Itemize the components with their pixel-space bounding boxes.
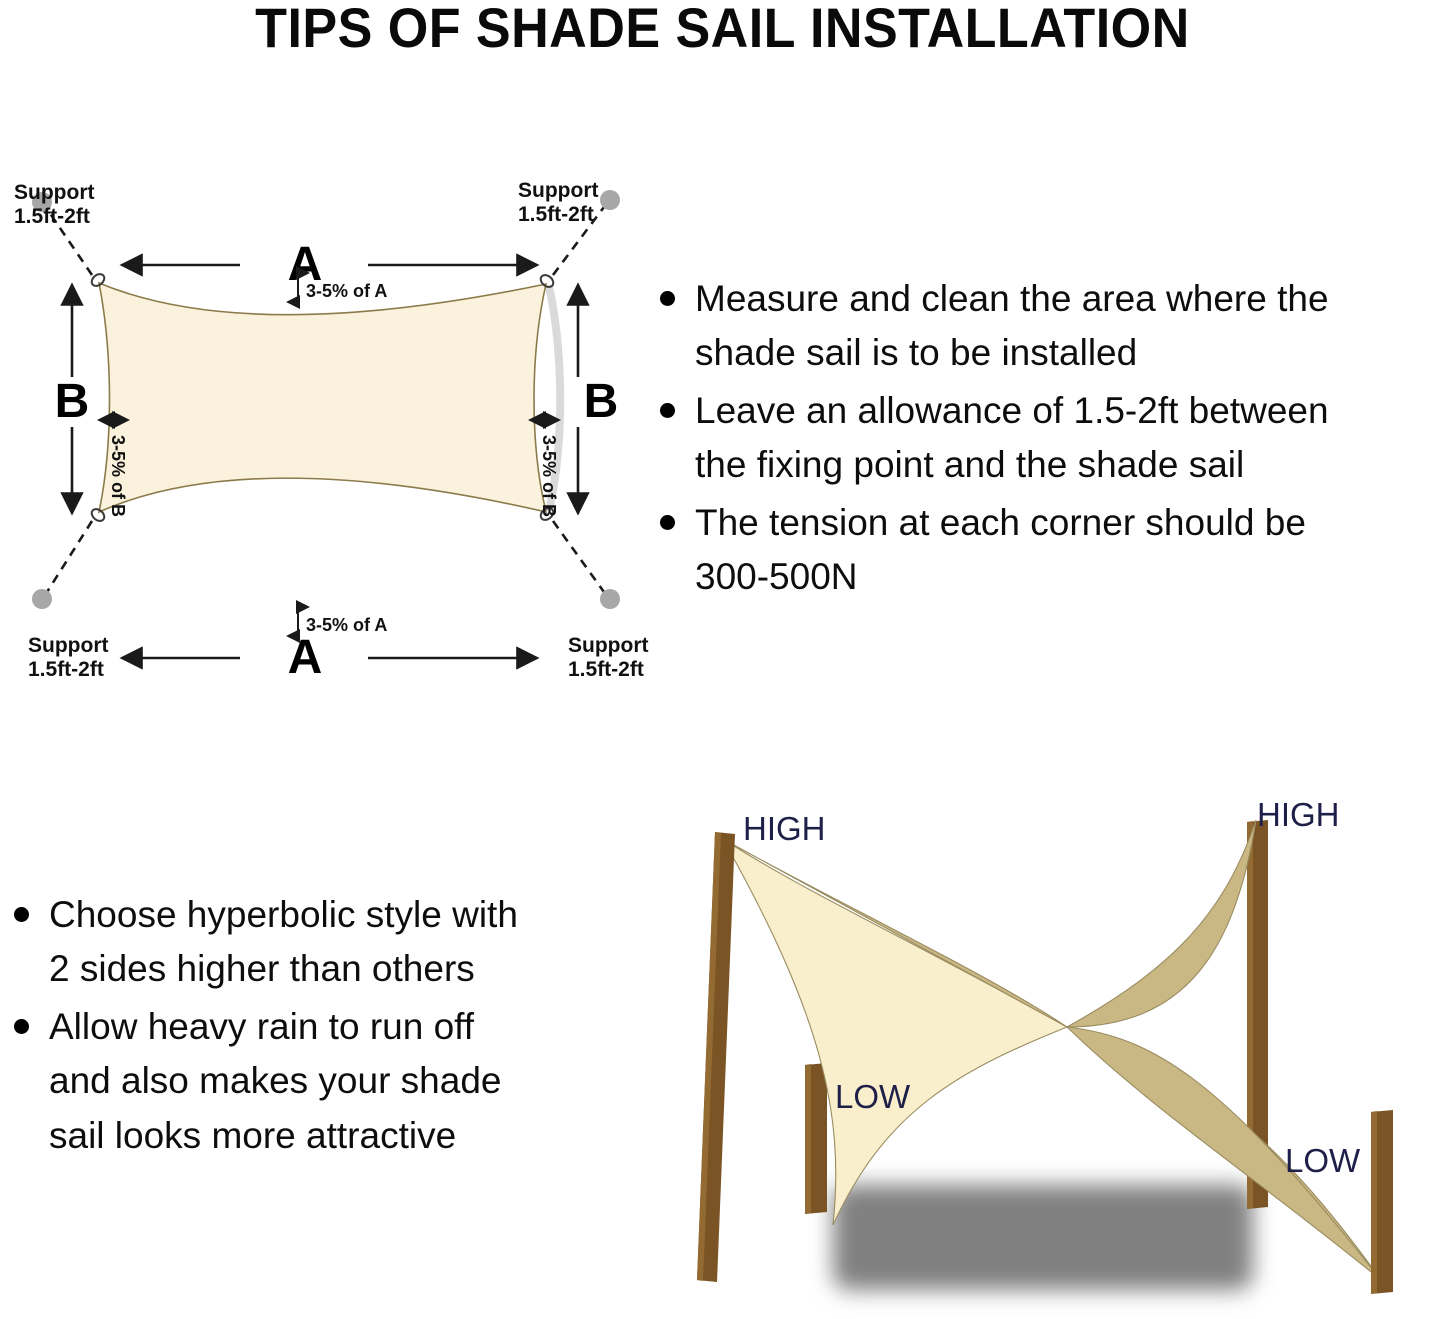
rectangular-sail-diagram: Support 1.5ft-2ft Support 1.5ft-2ft Supp… <box>0 155 660 735</box>
support-label-top-right-line1: Support <box>518 179 598 202</box>
dimension-label-B-right: B <box>584 375 619 428</box>
bullet-dot-icon <box>660 403 675 418</box>
list-item-label: The tension at each corner should be 300… <box>695 496 1445 605</box>
left-tips-list: Choose hyperbolic style with 2 sides hig… <box>2 888 622 1166</box>
support-label-bottom-left-line1: Support <box>28 634 108 657</box>
support-label-bottom-right-line1: Support <box>568 634 648 657</box>
label-high-left: HIGH <box>743 810 826 847</box>
leader-bottom-left <box>47 521 92 592</box>
support-dot-bottom-left <box>32 589 52 609</box>
support-label-top-left-line1: Support <box>14 181 94 204</box>
bullet-dot-icon <box>14 907 29 922</box>
post-low-right <box>1371 1110 1393 1294</box>
curve-label-top: 3-5% of A <box>306 281 387 301</box>
label-high-right: HIGH <box>1257 796 1340 833</box>
list-item: Choose hyperbolic style with 2 sides hig… <box>2 888 622 997</box>
label-low-left: LOW <box>835 1078 911 1115</box>
ground-shadow <box>833 1185 1253 1290</box>
page-title-bar: TIPS OF SHADE SAIL INSTALLATION <box>0 0 1445 60</box>
support-dot-bottom-right <box>600 589 620 609</box>
sail-body <box>99 283 546 512</box>
list-item: Measure and clean the area where the sha… <box>648 272 1445 381</box>
dimension-label-B-left: B <box>55 375 90 428</box>
label-low-right: LOW <box>1285 1142 1361 1179</box>
list-item: Allow heavy rain to run off and also mak… <box>2 1000 622 1163</box>
bullet-dot-icon <box>660 291 675 306</box>
bullet-dot-icon <box>660 515 675 530</box>
post-low-left <box>805 1063 827 1214</box>
page-title: TIPS OF SHADE SAIL INSTALLATION <box>255 0 1190 56</box>
curve-callout-bottom: 3-5% of A <box>298 607 387 636</box>
curve-label-right: 3-5% of B <box>539 435 559 517</box>
right-tips-list: Measure and clean the area where the sha… <box>648 272 1445 607</box>
leader-bottom-right <box>553 521 604 592</box>
support-label-top-left-line2: 1.5ft-2ft <box>14 205 90 228</box>
bullet-dot-icon <box>14 1019 29 1034</box>
support-label-top-right-line2: 1.5ft-2ft <box>518 203 594 226</box>
list-item-label: Measure and clean the area where the sha… <box>695 272 1445 381</box>
list-item: Leave an allowance of 1.5-2ft between th… <box>648 384 1445 493</box>
support-label-bottom-right-line2: 1.5ft-2ft <box>568 658 644 681</box>
list-item-label: Leave an allowance of 1.5-2ft between th… <box>695 384 1445 493</box>
support-dot-top-right <box>600 190 620 210</box>
curve-label-left: 3-5% of B <box>108 435 128 517</box>
hyperbolic-sail-diagram: HIGH HIGH LOW LOW <box>655 782 1445 1319</box>
dimension-label-A-bottom: A <box>288 631 323 684</box>
curve-label-bottom: 3-5% of A <box>306 615 387 635</box>
post-high-left <box>697 832 735 1282</box>
support-label-bottom-left-line2: 1.5ft-2ft <box>28 658 104 681</box>
list-item-label: Choose hyperbolic style with 2 sides hig… <box>49 888 622 997</box>
list-item: The tension at each corner should be 300… <box>648 496 1445 605</box>
list-item-label: Allow heavy rain to run off and also mak… <box>49 1000 622 1163</box>
sail-light-half <box>723 839 1067 1225</box>
